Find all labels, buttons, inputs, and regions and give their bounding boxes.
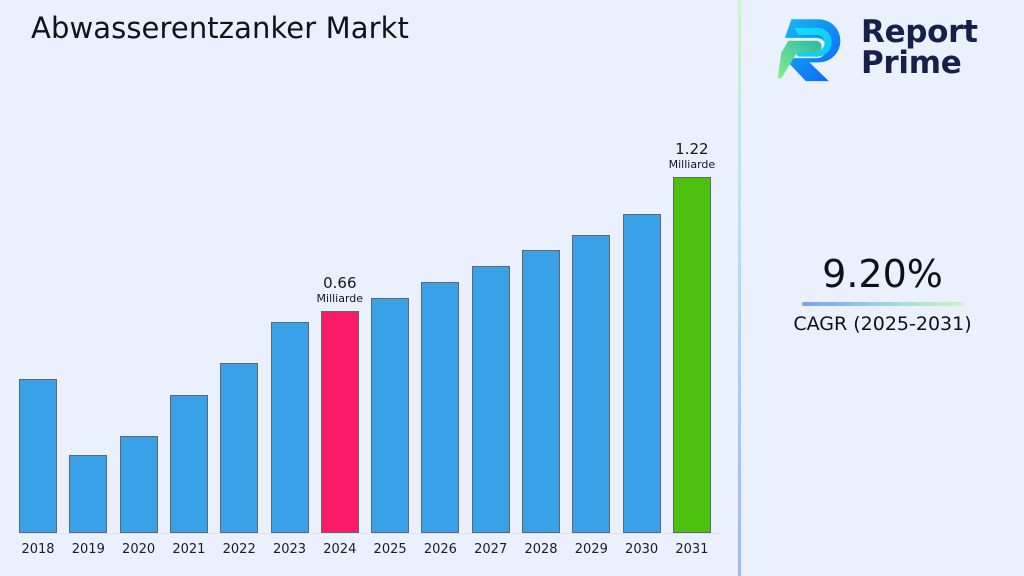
x-axis-tick-2029: 2029	[572, 542, 610, 557]
bar-value-unit-2024: Milliarde	[317, 292, 364, 306]
bar-group-2026	[421, 282, 459, 533]
x-axis-line	[18, 533, 722, 534]
bar-2025	[371, 298, 409, 533]
bar-group-2022	[220, 363, 258, 533]
bar-group-2030	[623, 214, 661, 533]
bar-2018	[19, 379, 57, 533]
report-prime-logo-icon	[777, 12, 849, 84]
bar-group-2025	[371, 298, 409, 533]
cagr-caption: CAGR (2025-2031)	[741, 313, 1024, 335]
brand-name-line2: Prime	[861, 48, 978, 79]
bar-value-number-2024: 0.66	[317, 275, 364, 292]
bar-group-2027	[472, 266, 510, 533]
x-axis-tick-2023: 2023	[271, 542, 309, 557]
bar-2030	[623, 214, 661, 533]
brand-logo: Report Prime	[777, 12, 978, 84]
bar-group-2019	[69, 455, 107, 533]
bar-2024	[321, 311, 359, 533]
x-axis-tick-2030: 2030	[623, 542, 661, 557]
bar-2026	[421, 282, 459, 533]
cagr-value: 9.20%	[741, 252, 1024, 296]
bar-group-2020	[120, 436, 158, 533]
brand-wordmark: Report Prime	[861, 17, 978, 79]
x-axis-tick-2021: 2021	[170, 542, 208, 557]
bar-2021	[170, 395, 208, 533]
x-axis-tick-2027: 2027	[472, 542, 510, 557]
x-axis-tick-2025: 2025	[371, 542, 409, 557]
bar-value-label-2024: 0.66Milliarde	[317, 275, 364, 306]
bar-value-unit-2031: Milliarde	[669, 158, 716, 172]
x-axis-tick-2028: 2028	[522, 542, 560, 557]
x-axis-tick-2031: 2031	[673, 542, 711, 557]
brand-name-line1: Report	[861, 17, 978, 48]
bar-2029	[572, 235, 610, 533]
bar-2022	[220, 363, 258, 533]
x-axis-tick-2026: 2026	[421, 542, 459, 557]
chart-panel: Abwasserentzanker Markt 2018201920202021…	[0, 0, 740, 576]
bar-chart-plot-area: 2018201920202021202220230.66Milliarde202…	[0, 0, 740, 576]
brand-panel: Report Prime 9.20% CAGR (2025-2031)	[741, 0, 1024, 576]
bar-2020	[120, 436, 158, 533]
bar-2028	[522, 250, 560, 533]
x-axis-tick-2022: 2022	[220, 542, 258, 557]
x-axis-tick-2020: 2020	[120, 542, 158, 557]
bar-group-2018	[19, 379, 57, 533]
bar-group-2029	[572, 235, 610, 533]
bar-value-number-2031: 1.22	[669, 141, 716, 158]
x-axis-tick-2024: 2024	[321, 542, 359, 557]
x-axis-tick-2018: 2018	[19, 542, 57, 557]
bar-group-2024: 0.66Milliarde	[321, 311, 359, 533]
bar-2031	[673, 177, 711, 533]
chart-screenshot: Abwasserentzanker Markt 2018201920202021…	[0, 0, 1024, 576]
cagr-divider-rule	[802, 302, 964, 306]
bar-2027	[472, 266, 510, 533]
bar-value-label-2031: 1.22Milliarde	[669, 141, 716, 172]
bar-group-2023	[271, 322, 309, 533]
cagr-block: 9.20% CAGR (2025-2031)	[741, 252, 1024, 335]
bar-group-2031: 1.22Milliarde	[673, 177, 711, 533]
bar-group-2028	[522, 250, 560, 533]
bar-2023	[271, 322, 309, 533]
bar-group-2021	[170, 395, 208, 533]
x-axis-tick-2019: 2019	[69, 542, 107, 557]
bar-2019	[69, 455, 107, 533]
